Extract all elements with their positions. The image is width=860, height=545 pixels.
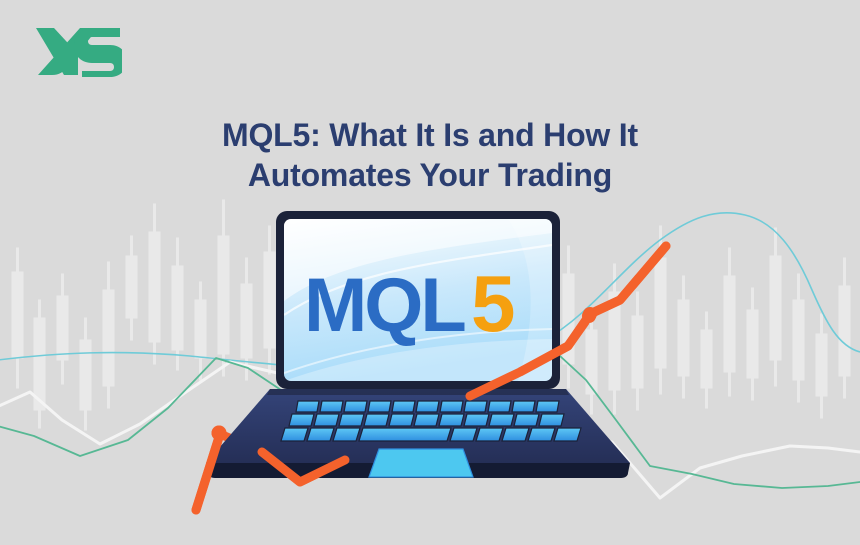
page-title-line-2: Automates Your Trading [130,155,730,195]
laptop-spacebar [359,428,451,441]
mql5-logo: MQL 5 [304,259,514,348]
laptop-trackpad[interactable] [369,449,473,477]
promo-banner: XS MQL5: What It Is and How It Automates… [0,0,860,545]
laptop-illustration: MQL 5 [178,205,648,480]
mql5-logo-primary-text: MQL [304,263,465,348]
mql5-logo-accent-text: 5 [471,259,514,348]
xs-logo-s-glyph [74,28,122,77]
page-title-line-1: MQL5: What It Is and How It [130,115,730,155]
xs-logo[interactable]: XS [34,26,122,80]
page-title: MQL5: What It Is and How It Automates Yo… [130,115,730,195]
